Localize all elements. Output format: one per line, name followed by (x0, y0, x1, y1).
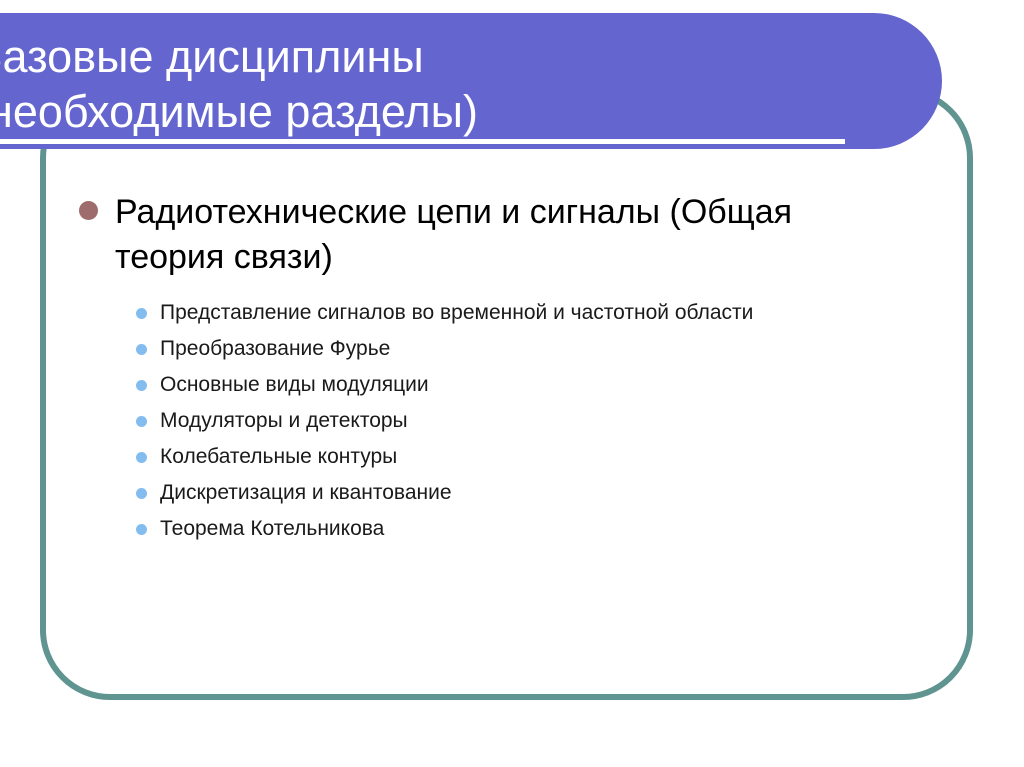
slide-body: Радиотехнические цепи и сигналы (Общая т… (0, 160, 1024, 553)
sub-bullet-dot-icon (136, 416, 147, 427)
list-item: Теорема Котельникова (0, 517, 1024, 553)
list-item: Модуляторы и детекторы (0, 409, 1024, 445)
list-item: Колебательные контуры (0, 445, 1024, 481)
presentation-slide: Базовые дисциплины (необходимые разделы)… (0, 0, 1024, 767)
sub-bullet-dot-icon (136, 524, 147, 535)
sub-bullet-dot-icon (136, 308, 147, 319)
list-item: Дискретизация и квантование (0, 481, 1024, 517)
sub-bullet-dot-icon (136, 452, 147, 463)
sub-bullet-dot-icon (136, 488, 147, 499)
title-underline (0, 139, 845, 144)
list-item: Основные виды модуляции (0, 373, 1024, 409)
list-item: Радиотехнические цепи и сигналы (Общая т… (0, 160, 900, 280)
bullet-level2-label: Колебательные контуры (160, 445, 397, 468)
bullet-level2-label: Представление сигналов во временной и ча… (160, 301, 753, 324)
list-item: Представление сигналов во временной и ча… (0, 301, 1024, 337)
bullet-level2-label: Модуляторы и детекторы (160, 409, 408, 432)
bullet-level1-label: Радиотехнические цепи и сигналы (Общая т… (115, 160, 900, 280)
bullet-dot-icon (79, 201, 98, 220)
list-item: Преобразование Фурье (0, 337, 1024, 373)
title-banner: Базовые дисциплины (необходимые разделы) (0, 13, 942, 149)
slide-title: Базовые дисциплины (необходимые разделы) (0, 29, 853, 139)
sub-bullet-list: Представление сигналов во временной и ча… (0, 301, 1024, 553)
sub-bullet-dot-icon (136, 380, 147, 391)
bullet-level2-label: Основные виды модуляции (160, 373, 429, 396)
bullet-level2-label: Дискретизация и квантование (160, 481, 452, 504)
bullet-level2-label: Преобразование Фурье (160, 337, 390, 360)
sub-bullet-dot-icon (136, 344, 147, 355)
bullet-level2-label: Теорема Котельникова (160, 517, 384, 540)
